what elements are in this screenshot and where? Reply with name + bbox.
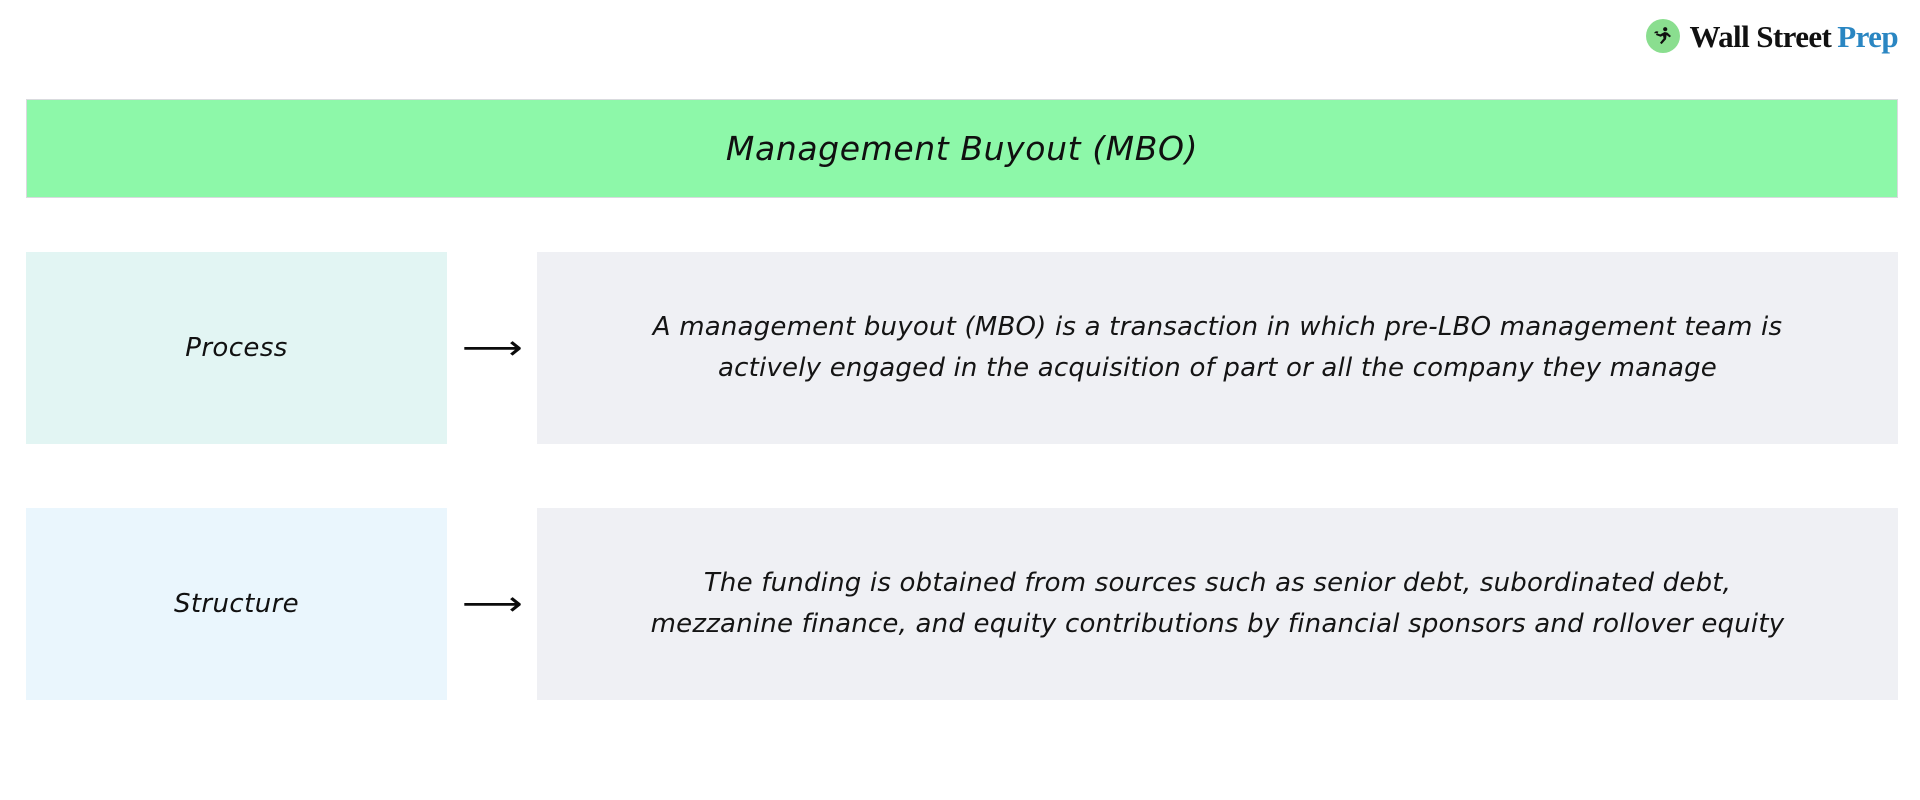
row-label-text: Structure: [174, 589, 299, 619]
description-line: mezzanine finance, and equity contributi…: [651, 604, 1785, 645]
arrow-glyph: ⟶: [462, 587, 523, 621]
title-banner: Management Buyout (MBO): [26, 99, 1898, 198]
row-description-structure: The funding is obtained from sources suc…: [537, 508, 1898, 700]
long-right-arrow-icon: ⟶: [447, 508, 537, 700]
brand-logo: Wall StreetPrep: [1646, 16, 1898, 56]
row-label-structure: Structure: [26, 508, 447, 700]
description-line: actively engaged in the acquisition of p…: [653, 348, 1782, 389]
row-description-text: A management buyout (MBO) is a transacti…: [653, 307, 1782, 389]
running-figure-icon: [1646, 19, 1680, 53]
long-right-arrow-icon: ⟶: [447, 252, 537, 444]
row-description-text: The funding is obtained from sources suc…: [651, 563, 1785, 645]
description-line: A management buyout (MBO) is a transacti…: [653, 307, 1782, 348]
row-label-process: Process: [26, 252, 447, 444]
row-description-process: A management buyout (MBO) is a transacti…: [537, 252, 1898, 444]
brand-name-secondary: Prep: [1837, 19, 1898, 54]
brand-name-primary: Wall Street: [1689, 19, 1831, 54]
arrow-glyph: ⟶: [462, 331, 523, 365]
content-row-process: Process ⟶ A management buyout (MBO) is a…: [26, 252, 1898, 444]
row-label-text: Process: [185, 333, 287, 363]
page-title: Management Buyout (MBO): [726, 129, 1198, 168]
description-line: The funding is obtained from sources suc…: [651, 563, 1785, 604]
brand-wordmark: Wall StreetPrep: [1689, 21, 1898, 52]
content-row-structure: Structure ⟶ The funding is obtained from…: [26, 508, 1898, 700]
